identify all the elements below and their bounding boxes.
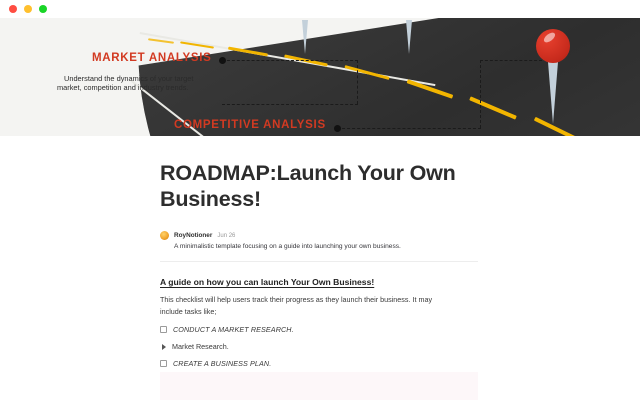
window-titlebar xyxy=(0,0,640,18)
connector-line-top-b xyxy=(480,60,542,61)
toggle-item[interactable]: Market Research. xyxy=(161,342,480,351)
connector-line-competitive xyxy=(337,128,481,129)
toggle-item-label: Market Research. xyxy=(172,342,229,351)
author-name[interactable]: RoyNotioner xyxy=(174,232,212,239)
author-description: A minimalistic template focusing on a gu… xyxy=(174,243,480,250)
todo-item-label: CREATE A BUSINESS PLAN. xyxy=(173,359,271,368)
hero-heading-market-analysis: MARKET ANALYSIS xyxy=(92,52,212,64)
page-title: ROADMAP:Launch Your Own Business! xyxy=(160,160,480,212)
connector-node-competitive xyxy=(334,125,341,132)
hero-heading-competitive-analysis: COMPETITIVE ANALYSIS xyxy=(174,119,326,131)
minimize-window-button[interactable] xyxy=(24,5,32,13)
close-window-button[interactable] xyxy=(9,5,17,13)
connector-line-vertical-b xyxy=(480,60,481,128)
content-divider xyxy=(160,261,478,262)
map-pin-needle-primary xyxy=(548,62,558,124)
connector-node-market xyxy=(219,57,226,64)
hero-banner-image: MARKET ANALYSIS Understand the dynamics … xyxy=(0,18,640,136)
callout-block[interactable] xyxy=(160,372,478,400)
connector-line-market xyxy=(222,60,358,61)
avatar[interactable] xyxy=(160,231,169,240)
author-row: RoyNotioner Jun 26 xyxy=(160,231,480,240)
section-heading[interactable]: A guide on how you can launch Your Own B… xyxy=(160,277,480,287)
hero-body-market-line2: market, competition and industry trends. xyxy=(57,82,188,93)
todo-item[interactable]: CONDUCT A MARKET RESEARCH. xyxy=(160,325,480,334)
checkbox-icon[interactable] xyxy=(160,326,167,333)
document-body: ROADMAP:Launch Your Own Business! RoyNot… xyxy=(0,136,640,400)
chevron-right-icon[interactable] xyxy=(162,344,166,350)
map-pin-needle xyxy=(406,20,412,54)
author-date: Jun 26 xyxy=(217,233,235,239)
map-pin-needle xyxy=(302,20,308,54)
todo-item-label: CONDUCT A MARKET RESEARCH. xyxy=(173,325,294,334)
map-pin-head xyxy=(536,29,570,63)
todo-item[interactable]: CREATE A BUSINESS PLAN. xyxy=(160,359,480,368)
section-paragraph: This checklist will help users track the… xyxy=(160,294,455,317)
connector-line-bottom-a xyxy=(222,104,358,105)
connector-line-vertical-a xyxy=(357,60,358,104)
maximize-window-button[interactable] xyxy=(39,5,47,13)
checkbox-icon[interactable] xyxy=(160,360,167,367)
